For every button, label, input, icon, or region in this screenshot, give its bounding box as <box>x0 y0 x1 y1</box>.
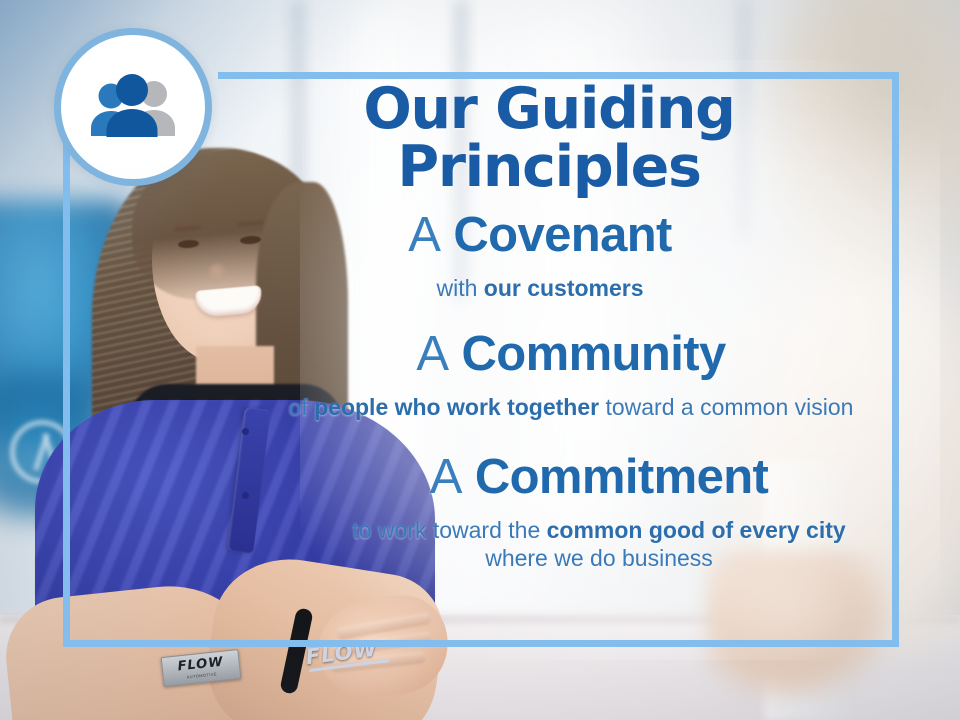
detail-strong: people who work together <box>314 394 599 420</box>
principle-title: A Community <box>262 329 880 381</box>
principle-title: A Commitment <box>318 452 880 504</box>
principle-covenant: A Covenant with our customers <box>200 210 880 303</box>
principle-keyword: Commitment <box>475 450 768 504</box>
detail-tail: toward a common vision <box>599 394 853 420</box>
detail-tail: where we do business <box>485 545 713 571</box>
principle-commitment: A Commitment to work toward the common g… <box>200 452 880 573</box>
principle-keyword: Covenant <box>453 208 671 262</box>
principle-title: A Covenant <box>200 210 880 262</box>
detail-strong: common good of every city <box>547 517 846 543</box>
page-title: Our Guiding Principles <box>218 80 880 196</box>
detail-lead: to work toward the <box>352 517 546 543</box>
principle-article: A <box>430 450 462 504</box>
principle-detail: with our customers <box>200 274 880 303</box>
people-group-icon <box>85 71 181 143</box>
principle-detail: to work toward the common good of every … <box>318 516 880 574</box>
detail-lead: with <box>436 275 483 301</box>
principle-community: A Community of people who work together … <box>200 329 880 422</box>
people-group-badge <box>54 28 212 186</box>
principle-keyword: Community <box>462 327 726 381</box>
text-content: Our Guiding Principles A Covenant with o… <box>200 80 880 573</box>
guiding-principles-graphic: FLOW AUTOMOTIVE FLOW <box>0 0 960 720</box>
name-badge-brand: FLOW <box>177 656 224 674</box>
detail-strong: our customers <box>484 275 644 301</box>
principle-article: A <box>416 327 448 381</box>
principle-article: A <box>408 208 440 262</box>
principle-detail: of people who work together toward a com… <box>262 393 880 422</box>
detail-lead: of <box>289 394 315 420</box>
